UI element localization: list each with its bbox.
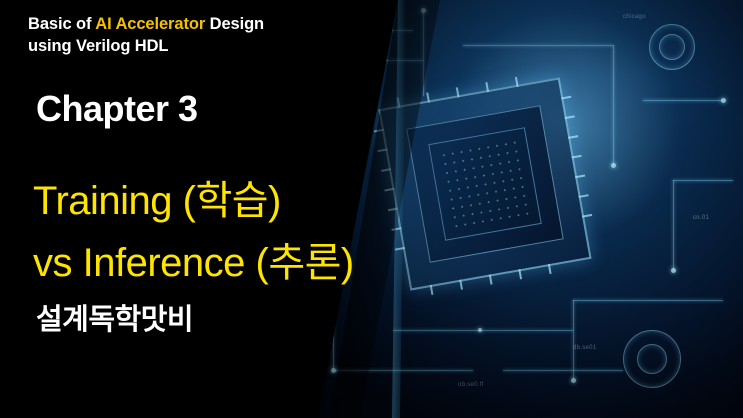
author-subtitle: 설계독학맛비 bbox=[36, 296, 193, 338]
slide-title-line-1: Training (학습) bbox=[33, 168, 281, 226]
course-header: Basic of AI Accelerator Design using Ver… bbox=[28, 14, 264, 58]
presentation-slide: chicago db.se01 ob.se0.ff cn.01 Basic of… bbox=[0, 0, 743, 418]
course-header-line1-pre: Basic of bbox=[28, 15, 95, 33]
course-header-line1-post: Design bbox=[205, 15, 264, 33]
chapter-label: Chapter 3 bbox=[36, 88, 198, 130]
course-header-line2: using Verilog HDL bbox=[28, 37, 168, 55]
slide-title-line-2: vs Inference (추론) bbox=[33, 230, 354, 288]
slide-content: Basic of AI Accelerator Design using Ver… bbox=[0, 0, 743, 418]
course-header-highlight: AI Accelerator bbox=[95, 15, 205, 33]
